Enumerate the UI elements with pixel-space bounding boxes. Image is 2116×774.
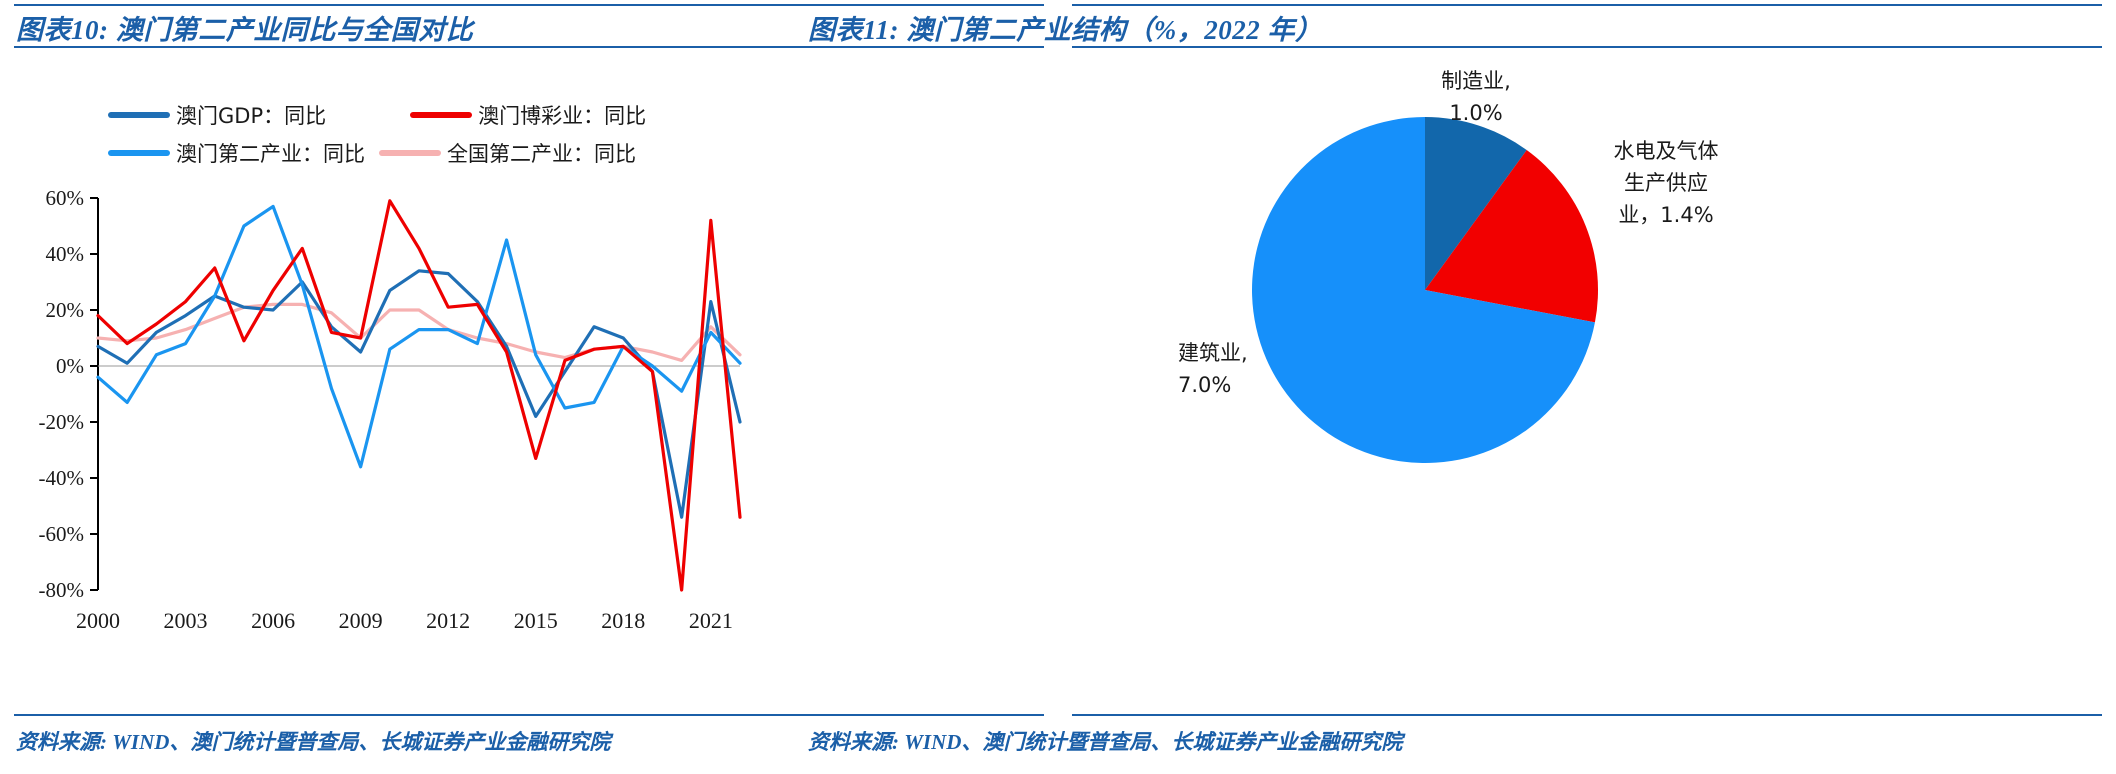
right-title-rule-top [1072, 4, 2102, 6]
legend-item-macau-gdp[interactable]: 澳门GDP：同比 [108, 100, 326, 130]
y-axis-tick-label: -20% [39, 410, 85, 434]
y-axis-tick-label: -40% [39, 466, 85, 490]
x-axis-tick-label: 2021 [689, 608, 733, 633]
y-axis-tick-label: 40% [46, 242, 85, 266]
legend-label-gaming: 澳门博彩业：同比 [478, 100, 646, 130]
left-title-rule-top [14, 4, 1044, 6]
line-series-0 [98, 271, 740, 517]
y-axis-tick-label: -60% [39, 522, 85, 546]
x-axis-tick-label: 2015 [514, 608, 558, 633]
pie-label-manufacturing: 制造业,1.0% [1441, 69, 1511, 125]
right-chart-title: 图表11: 澳门第二产业结构（%，2022 年） [808, 8, 1323, 47]
line-series-1 [98, 201, 740, 590]
y-axis-tick-label: 60% [46, 186, 85, 210]
legend-label-macau-gdp: 澳门GDP：同比 [176, 100, 326, 130]
legend-item-macau-secondary[interactable]: 澳门第二产业：同比 [108, 138, 365, 168]
x-axis-tick-label: 2000 [76, 608, 120, 633]
legend-item-gaming[interactable]: 澳门博彩业：同比 [410, 100, 646, 130]
left-chart-panel: 图表10: 澳门第二产业同比与全国对比 澳门GDP：同比 澳门博彩业：同比 澳门… [0, 0, 1058, 774]
pie-label-construction: 建筑业,7.0% [1178, 341, 1248, 397]
pie-chart: 制造业,1.0%水电及气体生产供应业，1.4%建筑业,7.0% [1058, 60, 2116, 660]
x-axis-tick-label: 2003 [164, 608, 208, 633]
legend-swatch-macau-gdp [108, 112, 170, 118]
right-source-text: 资料来源: WIND、澳门统计暨普查局、长城证券产业金融研究院 [808, 726, 1402, 756]
right-chart-panel: 图表11: 澳门第二产业结构（%，2022 年） 制造业,1.0%水电及气体生产… [1058, 0, 2116, 774]
left-source-text: 资料来源: WIND、澳门统计暨普查局、长城证券产业金融研究院 [16, 726, 610, 756]
x-axis-tick-label: 2018 [601, 608, 645, 633]
legend-swatch-macau-secondary [108, 150, 170, 156]
legend-label-national-secondary: 全国第二产业：同比 [447, 138, 636, 168]
legend-row-1: 澳门GDP：同比 澳门博彩业：同比 [100, 96, 740, 134]
y-axis-tick-label: 0% [56, 354, 84, 378]
y-axis-tick-label: -80% [39, 578, 85, 602]
right-title-rule-bottom [1072, 46, 2102, 48]
legend-row-2: 澳门第二产业：同比 全国第二产业：同比 [100, 134, 740, 172]
pie-chart-svg: 制造业,1.0%水电及气体生产供应业，1.4%建筑业,7.0% [1058, 60, 2116, 660]
legend-swatch-national-secondary [379, 150, 441, 156]
right-source-rule [1072, 714, 2102, 716]
line-chart-svg: 60%40%20%0%-20%-40%-60%-80%2000200320062… [20, 180, 760, 700]
legend-swatch-gaming [410, 112, 472, 118]
line-series-3 [98, 304, 740, 360]
x-axis-tick-label: 2009 [339, 608, 383, 633]
line-chart-legend: 澳门GDP：同比 澳门博彩业：同比 澳门第二产业：同比 全国第二产业：同比 [100, 96, 740, 172]
left-chart-title: 图表10: 澳门第二产业同比与全国对比 [16, 8, 473, 47]
line-chart: 60%40%20%0%-20%-40%-60%-80%2000200320062… [20, 180, 760, 700]
pie-label-utilities: 水电及气体生产供应业，1.4% [1614, 139, 1719, 227]
x-axis-tick-label: 2012 [426, 608, 470, 633]
left-source-rule [14, 714, 1044, 716]
x-axis-tick-label: 2006 [251, 608, 295, 633]
legend-label-macau-secondary: 澳门第二产业：同比 [176, 138, 365, 168]
legend-item-national-secondary[interactable]: 全国第二产业：同比 [379, 138, 636, 168]
y-axis-tick-label: 20% [46, 298, 85, 322]
